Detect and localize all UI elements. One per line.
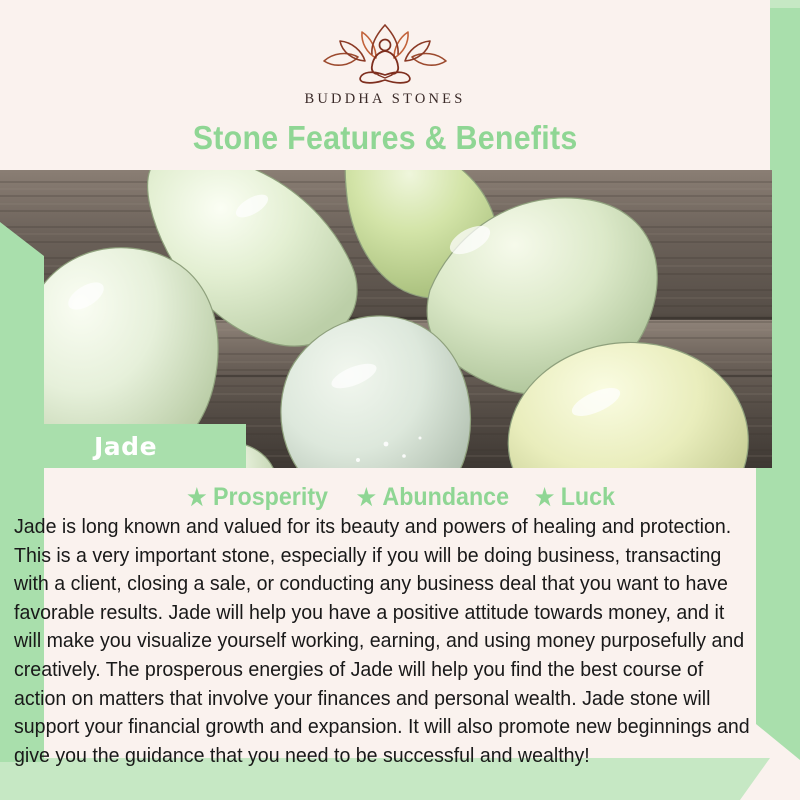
benefit-item: ★ Prosperity <box>188 483 329 512</box>
header: BUDDHA STONES Stone Features & Benefits <box>0 0 770 170</box>
lotus-meditation-icon <box>310 22 460 84</box>
benefit-label: Prosperity <box>213 483 328 512</box>
benefit-item: ★ Luck <box>535 483 615 512</box>
page-title: Stone Features & Benefits <box>193 119 578 157</box>
stone-description: Jade is long known and valued for its be… <box>14 513 754 770</box>
stone-name-label: Jade <box>94 432 157 461</box>
benefits-row: ★ Prosperity ★ Abundance ★ Luck <box>0 480 800 514</box>
benefit-label: Abundance <box>382 483 509 512</box>
star-icon: ★ <box>357 486 376 509</box>
brand-name: BUDDHA STONES <box>305 91 466 108</box>
brand-logo: BUDDHA STONES <box>305 22 466 108</box>
star-icon: ★ <box>535 486 554 509</box>
benefit-label: Luck <box>560 483 614 512</box>
star-icon: ★ <box>188 486 207 509</box>
benefit-item: ★ Abundance <box>357 483 509 512</box>
stone-name-band: Jade <box>22 424 246 468</box>
